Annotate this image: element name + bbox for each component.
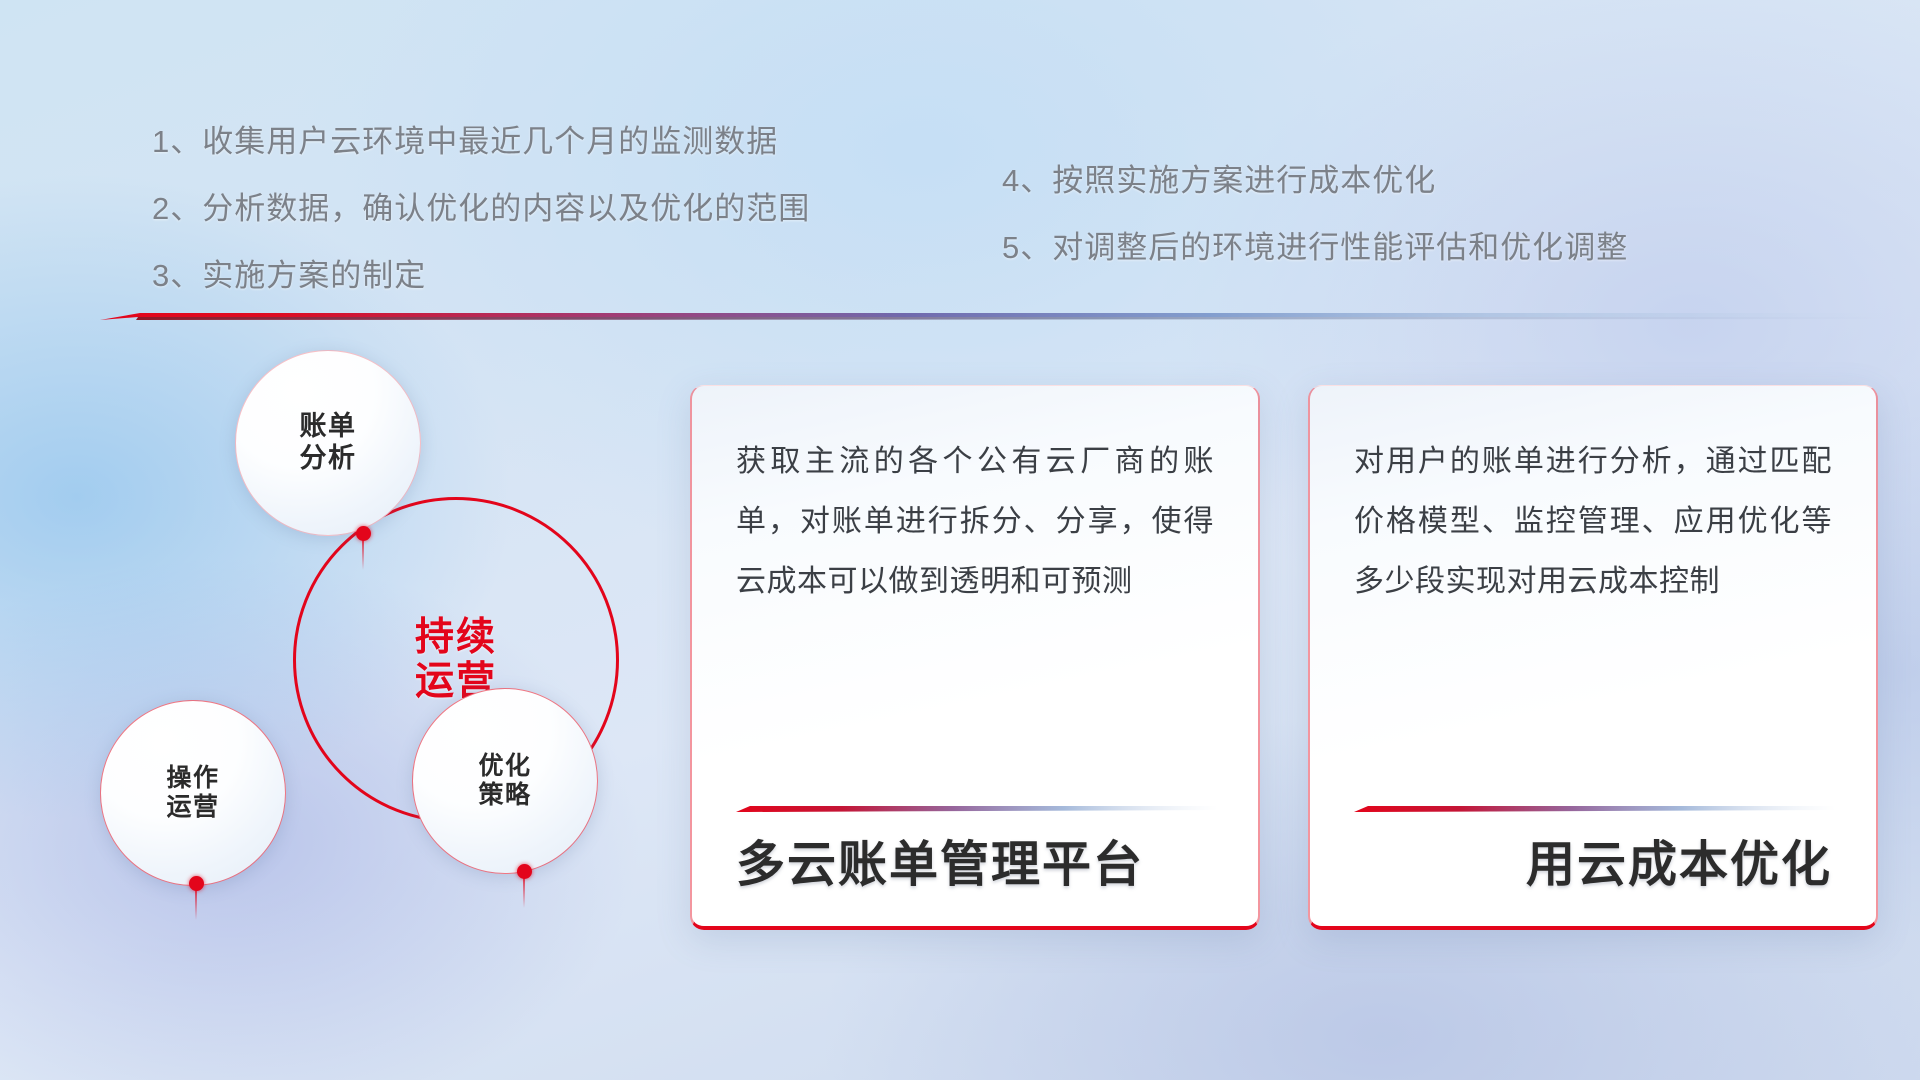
card-accent-rule xyxy=(736,800,1218,808)
connector-tail-right xyxy=(523,878,525,908)
card-body-text: 获取主流的各个公有云厂商的账单，对账单进行拆分、分享，使得云成本可以做到透明和可… xyxy=(736,432,1214,612)
section-divider xyxy=(100,309,1890,322)
node-label-line2: 分析 xyxy=(300,443,357,475)
bullet-item-3: 3、实施方案的制定 xyxy=(152,250,426,295)
connector-tail-left xyxy=(195,890,197,920)
continuous-operations-diagram: 持续 运营 账单 分析 操作 运营 优化 策略 xyxy=(100,350,660,950)
diagram-node-optimization-strategy[interactable]: 优化 策略 xyxy=(412,688,598,874)
node-label-line2: 策略 xyxy=(478,781,531,811)
connector-dot-left-icon xyxy=(189,876,204,891)
node-label-line2: 运营 xyxy=(166,793,219,823)
card-cloud-cost-optimization[interactable]: 对用户的账单进行分析，通过匹配价格模型、监控管理、应用优化等多少段实现对用云成本… xyxy=(1308,385,1878,930)
diagram-node-operations[interactable]: 操作 运营 xyxy=(100,700,286,886)
card-body-text: 对用户的账单进行分析，通过匹配价格模型、监控管理、应用优化等多少段实现对用云成本… xyxy=(1354,432,1832,612)
node-label-line1: 操作 xyxy=(166,764,219,794)
card-multi-cloud-billing-platform[interactable]: 获取主流的各个公有云厂商的账单，对账单进行拆分、分享，使得云成本可以做到透明和可… xyxy=(690,385,1260,930)
bullet-item-4: 4、按照实施方案进行成本优化 xyxy=(1002,155,1436,200)
bullet-item-2: 2、分析数据，确认优化的内容以及优化的范围 xyxy=(152,183,810,228)
center-label-line1: 持续 xyxy=(415,616,497,660)
card-title: 用云成本优化 xyxy=(1526,825,1832,896)
connector-dot-right-icon xyxy=(517,864,532,879)
card-title: 多云账单管理平台 xyxy=(736,825,1144,896)
connector-tail-top xyxy=(362,540,364,570)
diagram-node-bill-analysis[interactable]: 账单 分析 xyxy=(235,350,421,536)
bullet-list: 1、收集用户云环境中最近几个月的监测数据 2、分析数据，确认优化的内容以及优化的… xyxy=(0,0,1920,300)
connector-dot-top-icon xyxy=(356,526,371,541)
node-label-line1: 账单 xyxy=(300,411,357,443)
node-label-line1: 优化 xyxy=(478,752,531,782)
bullet-item-1: 1、收集用户云环境中最近几个月的监测数据 xyxy=(152,116,778,161)
bullet-item-5: 5、对调整后的环境进行性能评估和优化调整 xyxy=(1002,222,1628,267)
card-accent-rule xyxy=(1354,800,1836,808)
